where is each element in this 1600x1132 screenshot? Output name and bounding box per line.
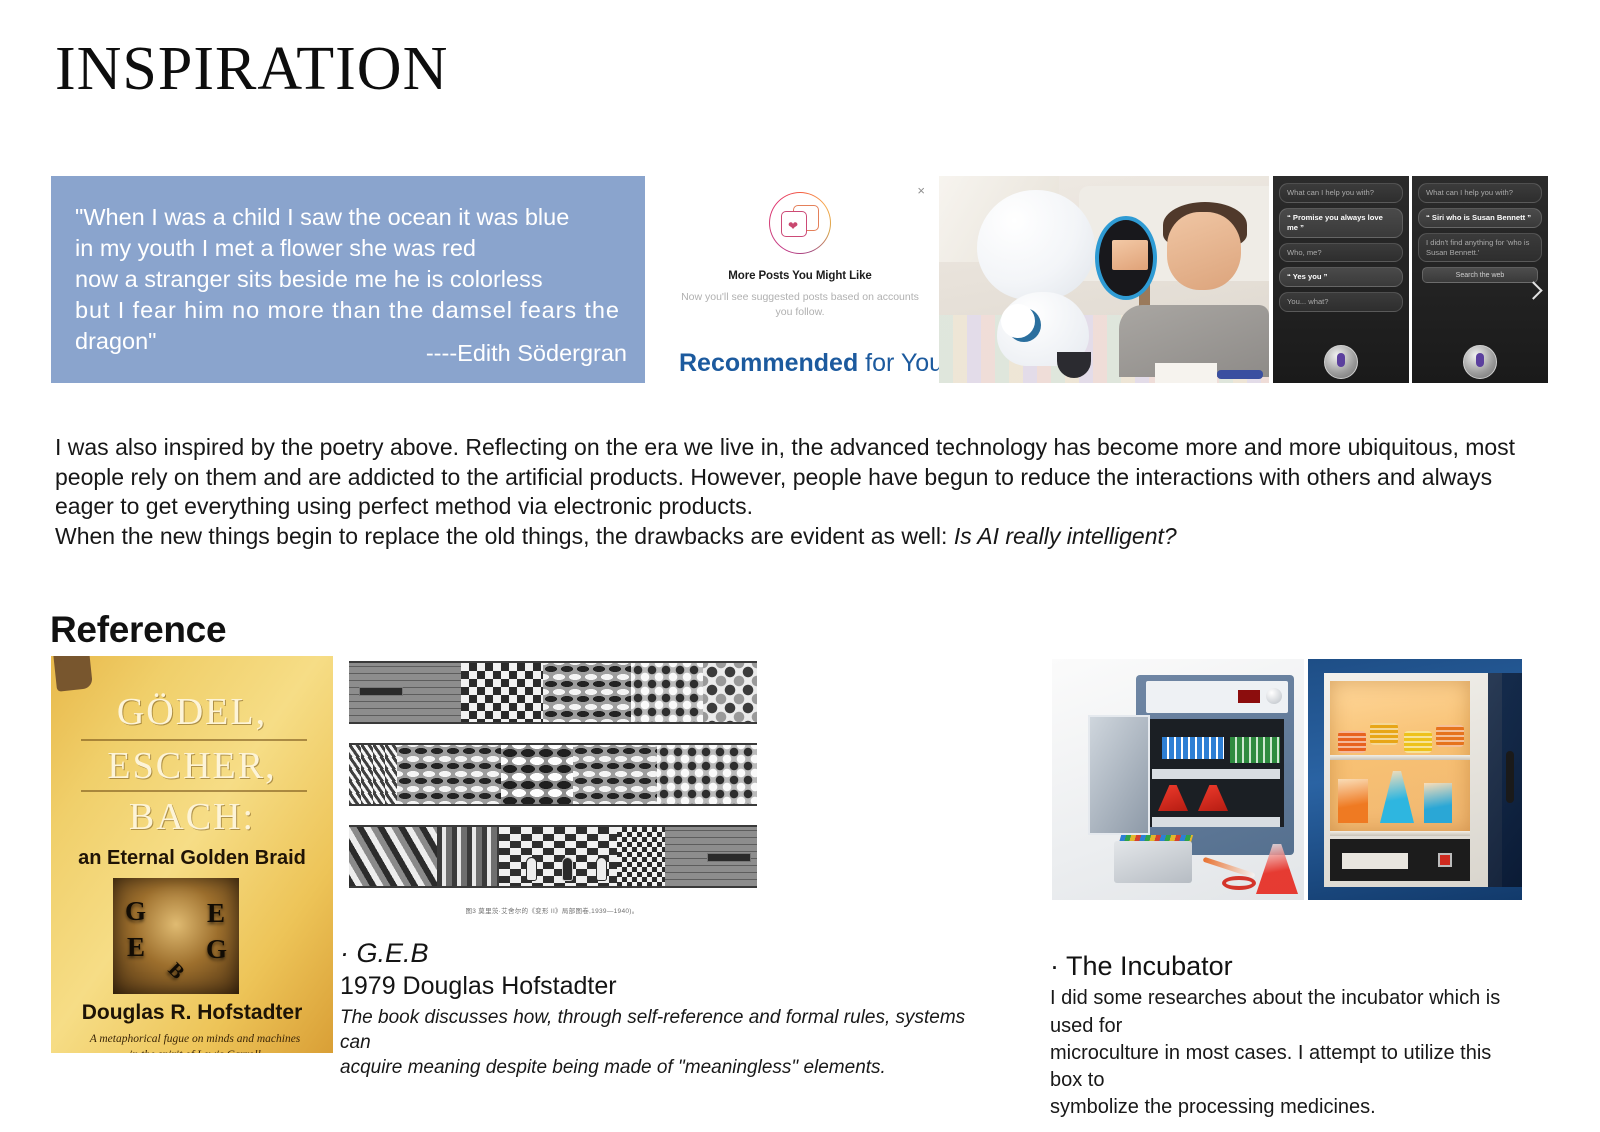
heart-icon: ❤ [788,221,799,232]
artwork-letter: G [206,934,227,965]
geb-description-line-1: The book discusses how, through self-ref… [340,1005,980,1055]
instagram-suggested-posts-card: × ❤ More Posts You Might Like Now you'll… [661,176,939,383]
power-button [1438,853,1452,867]
recommended-banner: Recommended for You [679,350,939,378]
poem-line: but I fear him no more than the damsel f… [75,295,623,326]
incubator-body-line-3: symbolize the processing medicines. [1050,1094,1520,1121]
segment-checker [461,663,547,722]
inspiration-media-row: "When I was a child I saw the ocean it w… [0,176,1600,386]
cover-rule [81,790,307,792]
incubator-shelf [1330,831,1470,836]
body-paragraph-2-prefix: When the new things begin to replace the… [55,523,954,549]
cover-title-line-3: BACH: [51,795,333,839]
red-tubing-coil [1222,876,1256,890]
page-title: INSPIRATION [55,38,448,100]
chess-pawn [527,858,536,880]
suggested-posts-subtitle: Now you'll see suggested posts based on … [679,290,921,320]
control-knob [1266,688,1282,704]
suggested-posts-title: More Posts You Might Like [661,270,939,282]
orange-beaker [1338,779,1368,823]
user-message: “ Siri who is Susan Bennett ” [1418,208,1542,228]
geb-reference-caption: · G.E.B 1979 Douglas Hofstadter The book… [340,938,980,1080]
robot-head [977,190,1095,300]
artwork-letter: B [163,959,189,985]
siri-message: You... what? [1279,292,1403,312]
segment-birds [397,745,505,804]
siri-screenshots: What can I help you with? “ Promise you … [1273,176,1549,383]
incubator-body-line-2: microculture in most cases. I attempt to… [1050,1040,1520,1094]
artwork-letter: E [127,932,145,963]
poem-line: now a stranger sits beside me he is colo… [75,264,623,295]
body-paragraph-1: I was also inspired by the poetry above.… [55,433,1530,522]
stacked-photos-heart-icon: ❤ [769,192,831,254]
metamorphosis-strip-1 [349,661,757,724]
petri-dish-stack [1370,723,1398,745]
robot-side-ring [1007,308,1041,342]
cover-title-line-1: GÖDEL, [51,690,333,734]
segment-birds [543,663,635,722]
geb-caption-title: · G.E.B [340,938,980,969]
poem-quote-card: "When I was a child I saw the ocean it w… [51,176,645,383]
geb-trip-let-artwork: G E E G B [113,878,239,994]
incubator-caption-title: · The Incubator [1050,950,1520,982]
incubator-caption-body: I did some researches about the incubato… [1050,985,1520,1121]
incubator-shelf [1330,755,1470,760]
metamorphosis-strip-2 [349,743,757,806]
geb-description-line-2: acquire meaning despite being made of "m… [340,1055,980,1080]
robot-screen-face [1112,240,1148,270]
petri-dish-stack [1338,731,1366,753]
body-paragraph-2-emphasis: Is AI really intelligent? [954,523,1177,549]
drawing-paper [1155,363,1217,383]
cover-author: Douglas R. Hofstadter [51,1001,333,1025]
siri-panel-1: What can I help you with? “ Promise you … [1273,176,1409,383]
segment-stars [631,663,707,722]
shelf-tray [1152,769,1280,779]
escher-metamorphosis-strips: 图3 莫里茨·艾舍尔的《变形 II》局部图卷,1939—1940)。 [341,657,763,915]
cover-blurb-line-1: A metaphorical fugue on minds and machin… [75,1032,315,1048]
cover-blurb-line-2: in the spirit of Lewis Carroll [75,1048,315,1053]
siri-message: I didn't find anything for 'who is Susan… [1418,233,1542,263]
body-paragraph-2: When the new things begin to replace the… [55,522,1530,552]
search-the-web-button[interactable]: Search the web [1422,267,1538,283]
poem-line: in my youth I met a flower she was red [75,233,623,264]
segment-bees [349,745,401,804]
geb-book-cover-image: GÖDEL, ESCHER, BACH: an Eternal Golden B… [51,656,333,1053]
recommended-light: for You [858,349,939,377]
pipette [1203,857,1256,878]
segment-stars [657,745,757,804]
siri-message: What can I help you with? [1418,183,1542,203]
cover-blurb: A metaphorical fugue on minds and machin… [75,1032,315,1053]
chevron-right-icon[interactable] [1524,281,1542,299]
robot-body [997,292,1089,366]
reference-heading: Reference [50,609,226,651]
segment-town [437,827,503,886]
artwork-letter: E [207,898,225,929]
cover-title-line-2: ESCHER, [51,744,333,788]
segment-checker [617,827,669,886]
cover-subtitle: an Eternal Golden Braid [51,847,333,870]
geb-caption-meta: 1979 Douglas Hofstadter [340,971,980,1001]
segment-hexagons [703,663,757,722]
robot-and-child-photo [939,176,1269,383]
siri-message: Who, me? [1279,243,1403,263]
bench-rack-base [1114,841,1192,883]
artwork-letter: G [125,896,146,927]
incubator-glass-door [1488,673,1522,887]
cover-tape [53,656,93,692]
segment-chessboard [499,827,625,886]
shelf-tray [1152,817,1280,827]
siri-microphone-button[interactable] [1324,345,1358,379]
chess-pawn [563,858,572,880]
close-icon[interactable]: × [917,184,925,197]
siri-message: What can I help you with? [1279,183,1403,203]
cover-rule [81,739,307,741]
blue-tube-rack [1162,737,1224,759]
robot-screen [1095,216,1157,300]
door-handle [1506,751,1514,803]
crayon [1217,370,1263,379]
child-head [1167,212,1241,290]
incubator-body-line-1: I did some researches about the incubato… [1050,985,1520,1039]
recommended-bold: Recommended [679,349,858,377]
poem-attribution: ----Edith Södergran [426,340,627,367]
petri-dish-stack [1436,725,1464,747]
segment-fish [501,745,577,804]
siri-panel-2: What can I help you with? “ Siri who is … [1412,176,1548,383]
control-label-plate [1342,853,1408,869]
metamorphosis-strip-3 [349,825,757,888]
petri-dish-stack [1404,731,1432,753]
siri-microphone-button[interactable] [1463,345,1497,379]
poem-lines: "When I was a child I saw the ocean it w… [75,202,623,356]
user-message: “ Promise you always love me ” [1279,208,1403,238]
escher-figure-caption: 图3 莫里茨·艾舍尔的《变形 II》局部图卷,1939—1940)。 [341,905,763,915]
incubator-reference-caption: · The Incubator I did some researches ab… [1050,950,1520,1121]
lab-incubator-photo [1308,659,1522,900]
blue-beaker [1424,783,1452,823]
inspiration-body-copy: I was also inspired by the poetry above.… [55,433,1530,551]
user-message: “ Yes you ” [1279,267,1403,287]
led-display [1238,690,1260,703]
segment-plaque [359,687,403,696]
segment-plaque [707,853,751,862]
segment-cubes [349,827,441,886]
geb-caption-description: The book discusses how, through self-ref… [340,1005,980,1080]
incubator-door [1088,715,1150,835]
chess-pawn [597,858,606,880]
poem-line: "When I was a child I saw the ocean it w… [75,202,623,233]
segment-birds [573,745,661,804]
green-tube-rack [1230,737,1280,763]
shaker-incubator-photo [1052,659,1304,900]
